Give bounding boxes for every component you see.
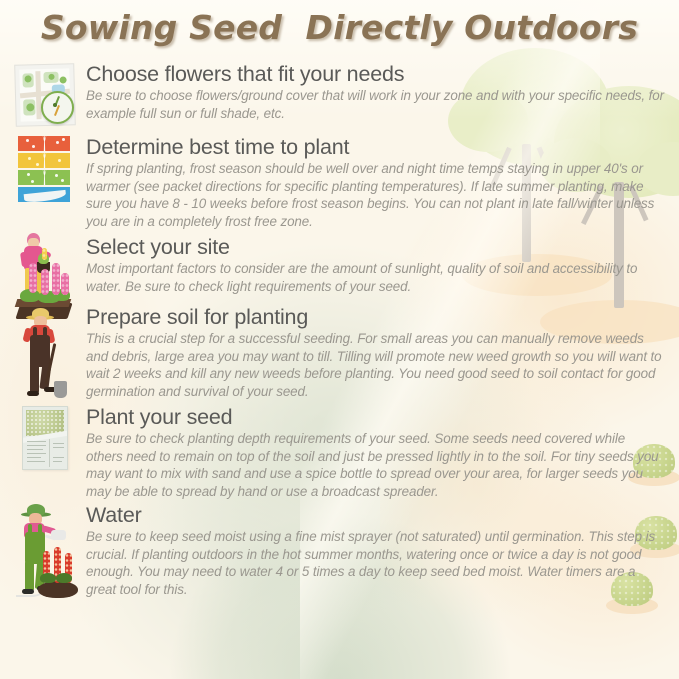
step-choose-flowers: Choose flowers that fit your needs Be su… bbox=[0, 60, 679, 133]
step-body: Be sure to choose flowers/ground cover t… bbox=[86, 87, 665, 122]
step-title: Plant your seed bbox=[86, 405, 665, 429]
step-title: Choose flowers that fit your needs bbox=[86, 62, 665, 86]
step-title: Determine best time to plant bbox=[86, 135, 665, 159]
step-title: Select your site bbox=[86, 235, 665, 259]
step-body: If spring planting, frost season should … bbox=[86, 160, 665, 231]
step-body: Be sure to keep seed moist using a fine … bbox=[86, 528, 665, 599]
compass-icon bbox=[41, 91, 74, 124]
step-water: Water Be sure to keep seed moist using a… bbox=[0, 501, 679, 606]
infographic-poster: Sowing Seed Directly Outdoors bbox=[0, 0, 679, 679]
page-title: Sowing Seed Directly Outdoors bbox=[0, 8, 679, 47]
step-plant-seed: Plant your seed Be sure to check plantin… bbox=[0, 403, 679, 501]
step-title: Prepare soil for planting bbox=[86, 305, 665, 329]
step-title: Water bbox=[86, 503, 665, 527]
step-body: Most important factors to consider are t… bbox=[86, 260, 665, 295]
step-select-site: Select your site Most important factors … bbox=[0, 233, 679, 303]
steps-list: Choose flowers that fit your needs Be su… bbox=[0, 60, 679, 606]
step-determine-time: Determine best time to plant If spring p… bbox=[0, 133, 679, 233]
step-body: Be sure to check planting depth requirem… bbox=[86, 430, 665, 501]
step-body: This is a crucial step for a successful … bbox=[86, 330, 665, 401]
step-prepare-soil: Prepare soil for planting This is a cruc… bbox=[0, 303, 679, 403]
